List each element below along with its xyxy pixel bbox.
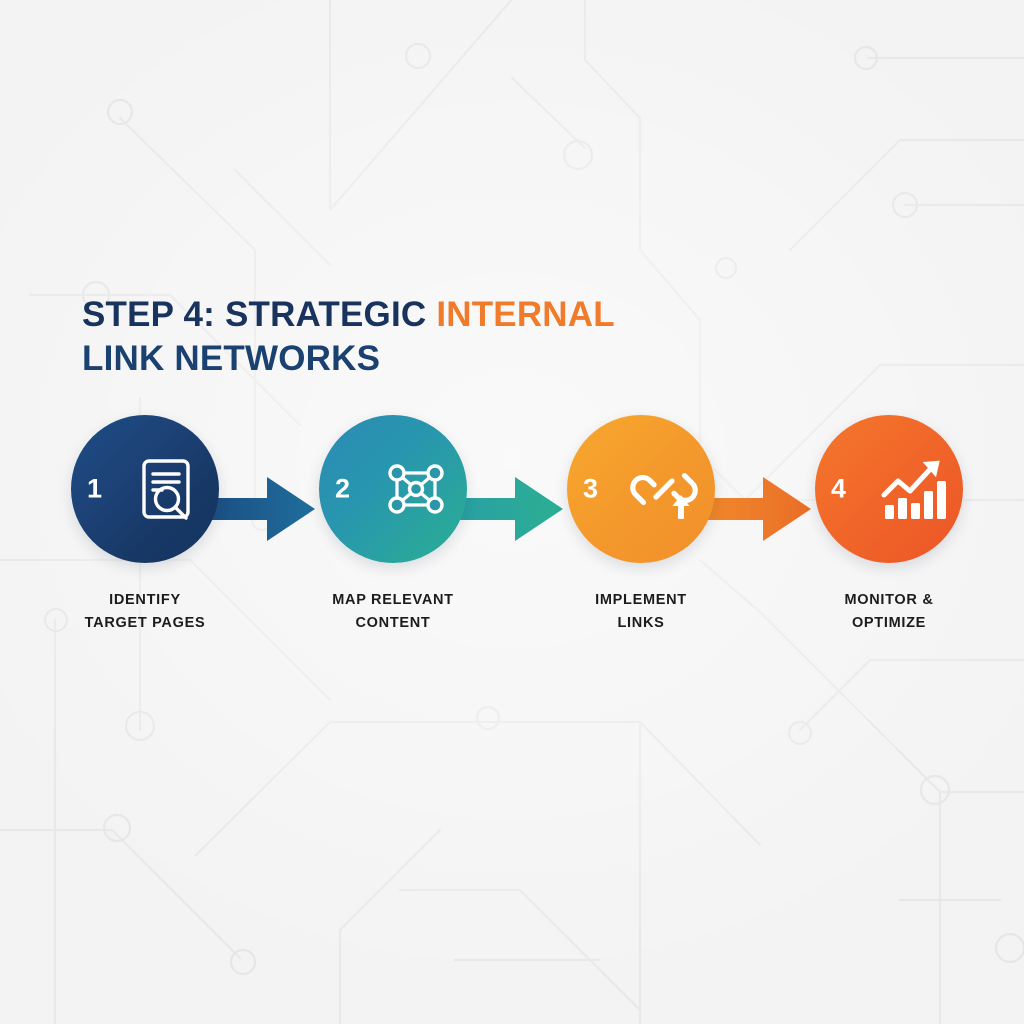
step-4-number: 4 xyxy=(831,476,846,503)
title-prefix: STEP 4: STRATEGIC xyxy=(82,295,436,334)
title-line-1: STEP 4: STRATEGIC INTERNAL xyxy=(82,293,782,337)
step-2-label: MAP RELEVANT CONTENT xyxy=(293,589,493,635)
step-3-circle-wrap: 3 xyxy=(567,415,715,563)
step-3-number: 3 xyxy=(583,476,598,503)
step-item-3[interactable]: 3 IMPLEMENT LINKS xyxy=(541,415,741,635)
infographic-stage: STEP 4: STRATEGIC INTERNAL LINK NETWORKS xyxy=(0,0,1024,1024)
step-1-label: IDENTIFY TARGET PAGES xyxy=(45,589,245,635)
step-1-number: 1 xyxy=(87,476,102,503)
step-item-2[interactable]: 2 xyxy=(293,415,493,635)
step-4-circle-wrap: 4 xyxy=(815,415,963,563)
bar-chart-growth-icon xyxy=(876,453,948,525)
page-title: STEP 4: STRATEGIC INTERNAL LINK NETWORKS xyxy=(82,293,782,381)
step-item-1[interactable]: 1 IDENTIFY TARGET PAGES xyxy=(45,415,245,635)
step-2-circle-wrap: 2 xyxy=(319,415,467,563)
step-1-circle-wrap: 1 xyxy=(71,415,219,563)
step-3-label: IMPLEMENT LINKS xyxy=(541,589,741,635)
title-line-2: LINK NETWORKS xyxy=(82,337,782,381)
step-2-number: 2 xyxy=(335,476,350,503)
chain-link-arrow-icon xyxy=(628,453,700,525)
title-accent-word: INTERNAL xyxy=(436,295,615,334)
document-search-icon xyxy=(132,453,204,525)
steps-row: 1 IDENTIFY TARGET PAGES 2 xyxy=(0,415,1024,665)
step-4-label: MONITOR & OPTIMIZE xyxy=(789,589,989,635)
step-item-4[interactable]: 4 MONITOR & OPTIMIZE xyxy=(789,415,989,635)
network-nodes-icon xyxy=(380,453,452,525)
